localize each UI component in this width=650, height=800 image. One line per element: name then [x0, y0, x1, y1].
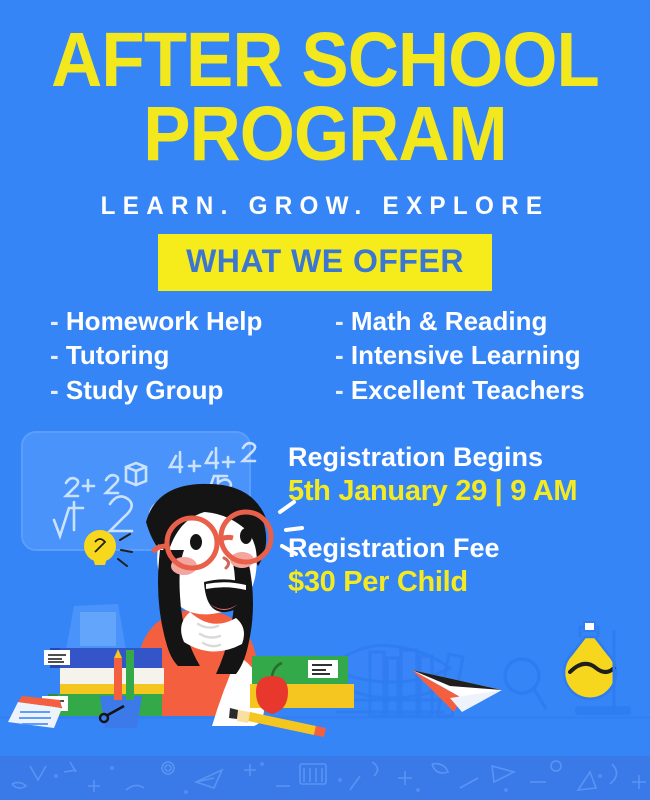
- dash-bullet: -: [50, 340, 59, 370]
- registration-fee-label: Registration Fee: [288, 533, 638, 565]
- what-we-offer-banner: WHAT WE OFFER: [158, 234, 492, 291]
- list-item-label: Excellent Teachers: [351, 375, 585, 405]
- page-title-line2: PROGRAM: [26, 98, 624, 172]
- registration-begins-value: 5th January 29 | 9 AM: [288, 474, 638, 509]
- page-subtitle: LEARN. GROW. EXPLORE: [10, 192, 641, 221]
- list-item-label: Study Group: [66, 375, 223, 405]
- registration-begins-label: Registration Begins: [288, 442, 638, 474]
- registration-fee-block: Registration Fee $30 Per Child: [288, 533, 638, 600]
- list-item-label: Intensive Learning: [351, 340, 581, 370]
- registration-section: Registration Begins 5th January 29 | 9 A…: [288, 442, 638, 599]
- list-item-label: Math & Reading: [351, 306, 547, 336]
- magnifier-icon: [505, 659, 546, 709]
- book-stack-left: [8, 604, 164, 728]
- list-item: - Math & Reading: [335, 304, 585, 338]
- list-item: - Excellent Teachers: [335, 373, 585, 407]
- list-item: - Intensive Learning: [335, 338, 585, 372]
- what-we-offer-banner-wrap: WHAT WE OFFER: [0, 234, 650, 291]
- offers-right-column: - Math & Reading - Intensive Learning - …: [335, 304, 585, 407]
- dash-bullet: -: [335, 375, 344, 405]
- registration-begins-block: Registration Begins 5th January 29 | 9 A…: [288, 442, 638, 509]
- registration-fee-value: $30 Per Child: [288, 565, 638, 600]
- bottom-pattern-band: [0, 756, 650, 800]
- poster-root: AFTER SCHOOL PROGRAM LEARN. GROW. EXPLOR…: [0, 0, 650, 800]
- dash-bullet: -: [50, 375, 59, 405]
- list-item: - Tutoring: [50, 338, 262, 372]
- paper-airplane-icon: [412, 670, 502, 712]
- list-item-label: Homework Help: [66, 306, 263, 336]
- dash-bullet: -: [50, 306, 59, 336]
- dash-bullet: -: [335, 306, 344, 336]
- flask-icon: [564, 622, 631, 715]
- list-item: - Study Group: [50, 373, 262, 407]
- list-item-label: Tutoring: [66, 340, 169, 370]
- poster-header: AFTER SCHOOL PROGRAM LEARN. GROW. EXPLOR…: [0, 0, 650, 221]
- offers-left-column: - Homework Help - Tutoring - Study Group: [50, 304, 262, 407]
- list-item: - Homework Help: [50, 304, 262, 338]
- page-title-line1: AFTER SCHOOL: [26, 0, 624, 98]
- dash-bullet: -: [335, 340, 344, 370]
